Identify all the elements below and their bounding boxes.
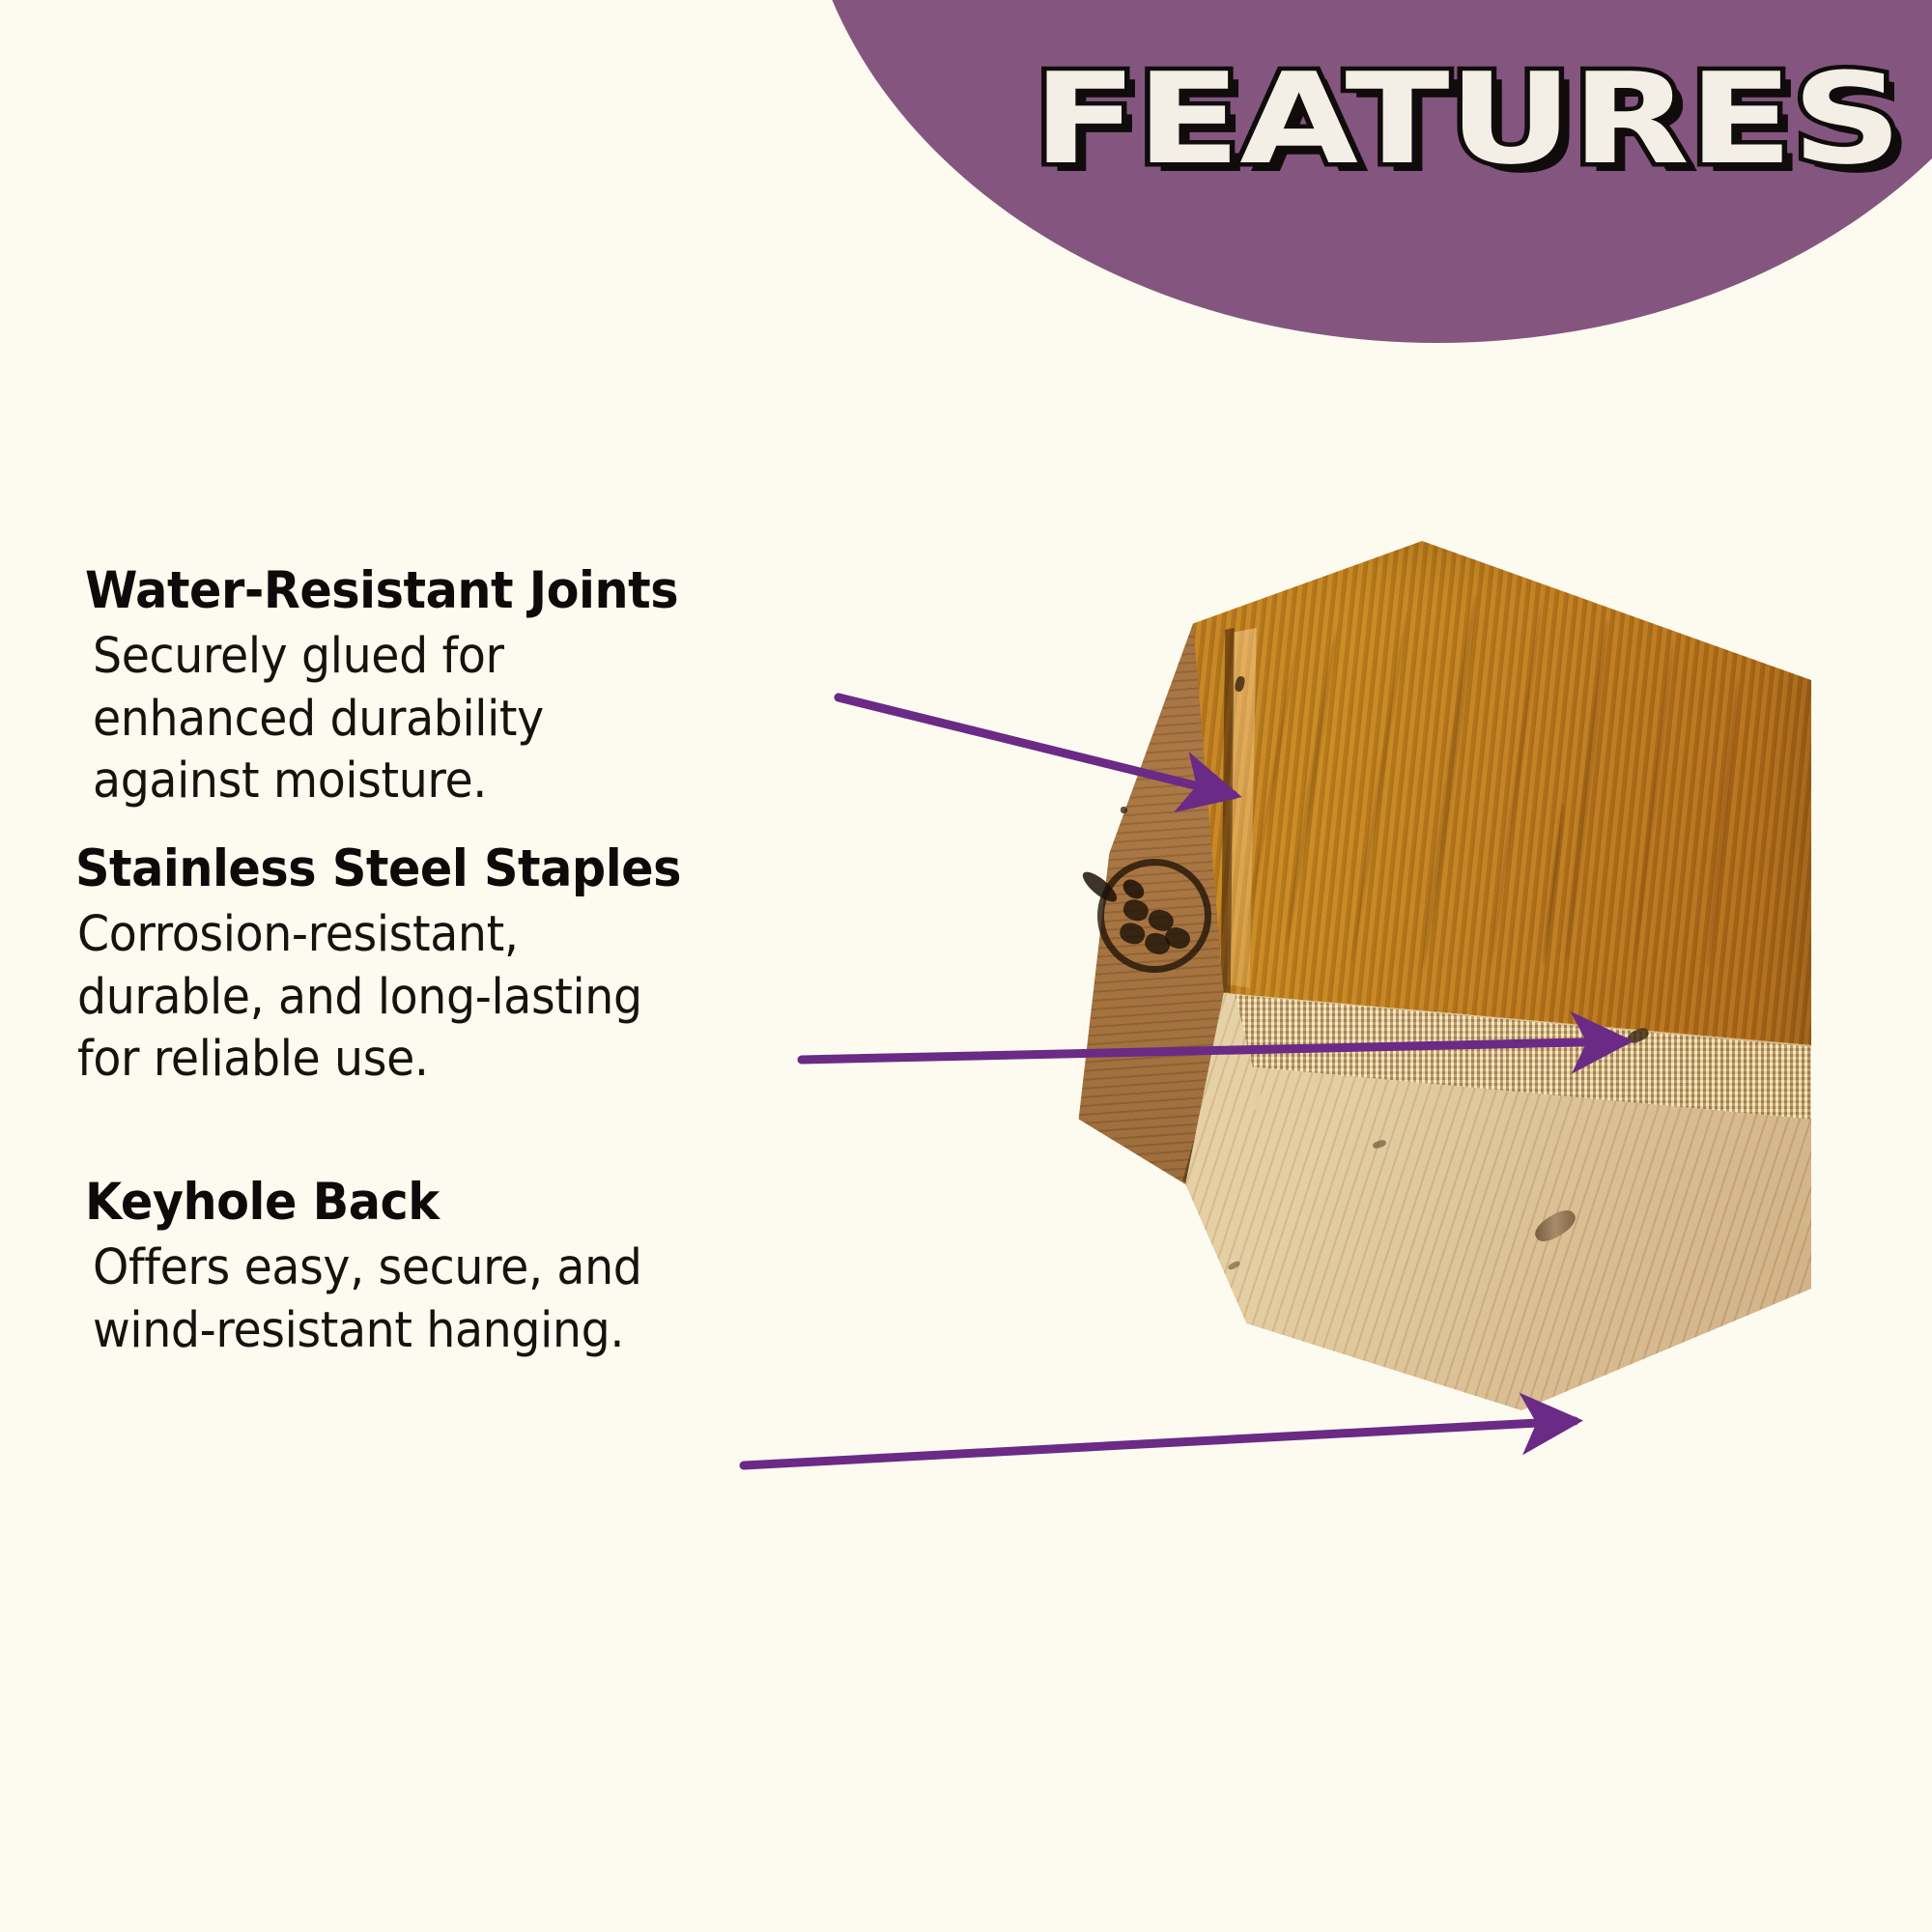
gable-speck — [1121, 807, 1127, 813]
product-photo — [1048, 541, 1811, 1410]
feature-body: Offers easy, secure, and wind-resistant … — [93, 1237, 722, 1362]
feature-block-stainless-steel-staples: Stainless Steel Staples Corrosion-resist… — [75, 840, 753, 1091]
product-photo-body — [1048, 541, 1811, 1410]
callout-arrow-3 — [744, 1421, 1575, 1465]
feature-block-keyhole-back: Keyhole Back Offers easy, secure, and wi… — [85, 1174, 769, 1362]
feature-body: Corrosion-resistant, durable, and long-l… — [77, 904, 706, 1091]
feature-title: Keyhole Back — [85, 1174, 721, 1231]
feature-title: Stainless Steel Staples — [75, 840, 706, 897]
feature-block-water-resistant-joints: Water-Resistant Joints Securely glued fo… — [85, 562, 769, 812]
page-title: FEATURES — [711, 56, 1901, 182]
infographic-canvas: FEATURES — [0, 0, 1932, 1932]
feature-body: Securely glued for enhanced durability a… — [93, 626, 722, 812]
feature-title: Water-Resistant Joints — [85, 562, 721, 619]
